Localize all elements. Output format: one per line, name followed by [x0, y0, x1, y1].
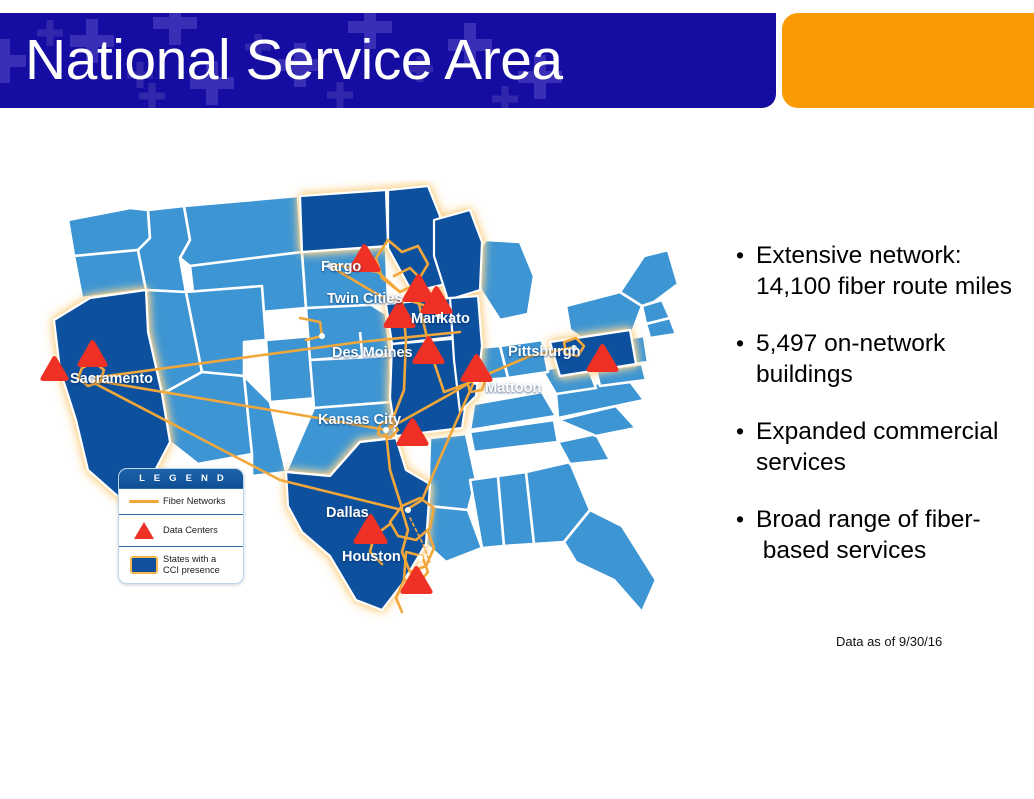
- footnote-data-as-of: Data as of 9/30/16: [836, 634, 942, 649]
- bullet-line2: services: [756, 447, 998, 478]
- bullet-line1: Broad range of fiber-: [756, 504, 981, 535]
- bullet-list: • Extensive network: 14,100 fiber route …: [736, 240, 1028, 592]
- bullet-text: Broad range of fiber- based services: [756, 504, 981, 566]
- state-swatch-icon: [125, 556, 163, 574]
- triangle-icon: [125, 522, 163, 539]
- bullet-line2: 14,100 fiber route miles: [756, 271, 1012, 302]
- state-north-dakota: [300, 190, 388, 252]
- bullet-broad-range: • Broad range of fiber- based services: [736, 504, 1028, 566]
- legend-label-data-centers: Data Centers: [163, 525, 218, 536]
- state-wisconsin: [434, 210, 482, 300]
- header-blue-panel: National Service Area: [0, 13, 776, 108]
- bullet-text: Expanded commercial services: [756, 416, 998, 478]
- legend: L E G E N D Fiber Networks Data Centers …: [118, 468, 244, 584]
- legend-row-data-centers: Data Centers: [119, 514, 243, 546]
- bullet-line2: buildings: [756, 359, 945, 390]
- bullet-line1: 5,497 on-network: [756, 328, 945, 359]
- bullet-line2: based services: [756, 535, 981, 566]
- bullet-marker: •: [736, 504, 756, 534]
- legend-label-cci-presence-line1: States with a: [163, 554, 220, 565]
- fiber-line-icon: [125, 500, 163, 503]
- bullet-text: 5,497 on-network buildings: [756, 328, 945, 390]
- bullet-expanded-commercial: • Expanded commercial services: [736, 416, 1028, 478]
- header-banner: National Service Area: [0, 13, 1034, 108]
- page-title: National Service Area: [25, 29, 563, 91]
- bullet-marker: •: [736, 416, 756, 446]
- bullet-marker: •: [736, 328, 756, 358]
- bullet-on-network-buildings: • 5,497 on-network buildings: [736, 328, 1028, 390]
- legend-label-cci-presence: States with a CCI presence: [163, 554, 220, 576]
- legend-title: L E G E N D: [119, 469, 243, 488]
- header-orange-panel: [782, 13, 1034, 108]
- legend-label-fiber-networks: Fiber Networks: [163, 496, 226, 507]
- bullet-line1: Extensive network:: [756, 240, 1012, 271]
- bullet-extensive-network: • Extensive network: 14,100 fiber route …: [736, 240, 1028, 302]
- legend-label-cci-presence-line2: CCI presence: [163, 565, 220, 576]
- bullet-text: Extensive network: 14,100 fiber route mi…: [756, 240, 1012, 302]
- legend-row-cci-presence: States with a CCI presence: [119, 546, 243, 583]
- bullet-marker: •: [736, 240, 756, 270]
- bullet-line1: Expanded commercial: [756, 416, 998, 447]
- legend-row-fiber-networks: Fiber Networks: [119, 488, 243, 514]
